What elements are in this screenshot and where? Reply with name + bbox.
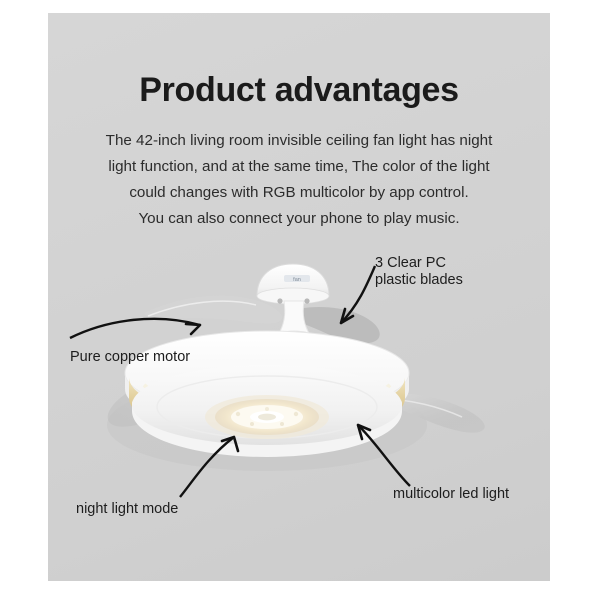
product-advantages-page: Product advantages The 42-inch living ro… — [0, 0, 600, 600]
arrow-to-motor — [70, 319, 200, 338]
night-light-center — [205, 395, 329, 439]
content-panel: Product advantages The 42-inch living ro… — [48, 13, 550, 581]
callout-label-led-light: multicolor led light — [393, 486, 509, 503]
callout-label-blades: 3 Clear PC plastic blades — [375, 255, 463, 289]
callout-label-motor: Pure copper motor — [70, 349, 190, 366]
callout-label-night-light: night light mode — [76, 501, 178, 518]
ceiling-mount: fan — [257, 264, 329, 304]
svg-text:fan: fan — [293, 277, 301, 283]
